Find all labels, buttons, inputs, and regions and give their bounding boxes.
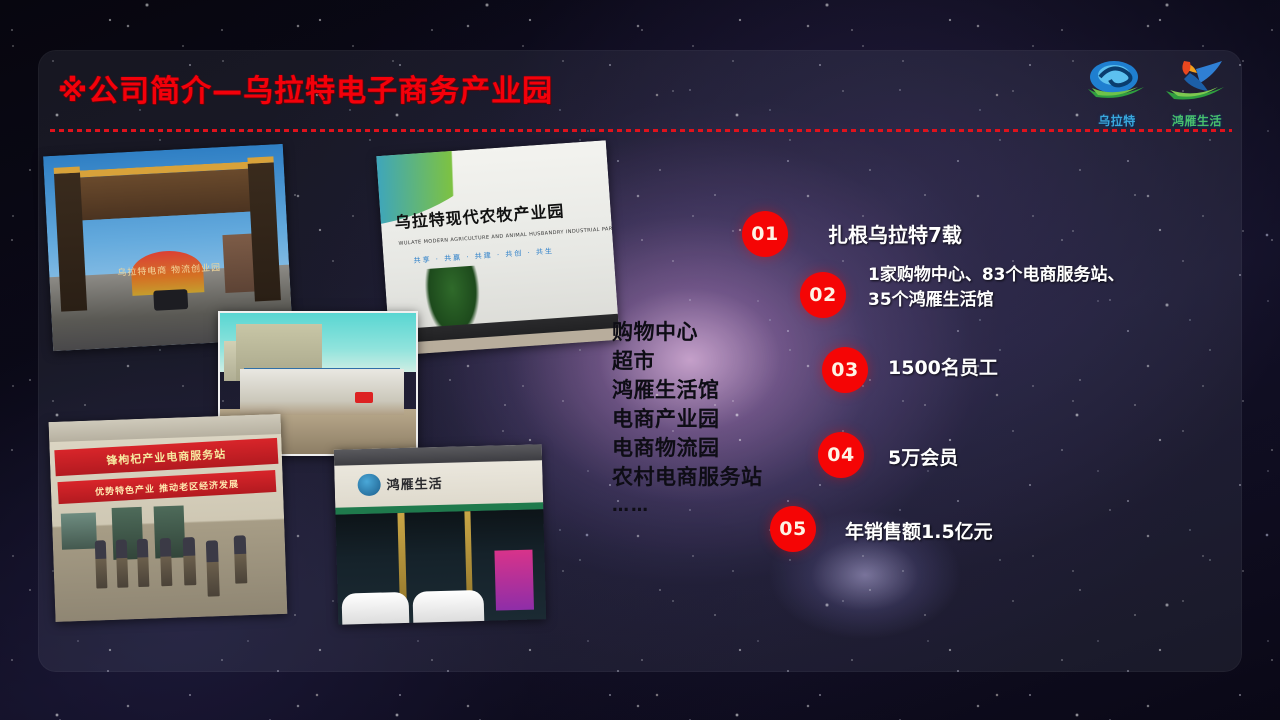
business-line-ellipsis: …… bbox=[612, 492, 763, 521]
wulate-ecommerce-logo: 乌拉特 bbox=[1080, 57, 1154, 129]
hongyan-life-logo: 鸿雁生活 bbox=[1160, 57, 1234, 129]
slide-canvas: ※公司简介—乌拉特电子商务产业园 乌拉特 bbox=[0, 0, 1280, 720]
mall-red-sign bbox=[355, 392, 373, 403]
business-line-item: 电商产业园 bbox=[612, 405, 763, 434]
highlight-text-05: 年销售额1.5亿元 bbox=[845, 517, 993, 544]
highlight-text-03: 1500名员工 bbox=[888, 353, 998, 380]
person bbox=[115, 539, 128, 587]
business-line-item: 电商物流园 bbox=[612, 434, 763, 463]
station-photo-content: 锋枸杞产业电商服务站 优势特色产业 推动老区经济发展 bbox=[49, 414, 288, 622]
logo-group: 乌拉特 鸿雁生活 bbox=[1080, 57, 1240, 129]
window bbox=[61, 513, 97, 550]
hongyan-life-storefront-photo: 鸿雁生活 bbox=[334, 444, 547, 624]
highlight-text-01: 扎根乌拉特7载 bbox=[828, 219, 962, 248]
business-line-item: 农村电商服务站 bbox=[612, 463, 763, 492]
flying-goose-icon bbox=[1160, 57, 1234, 105]
storefront-photo-content: 鸿雁生活 bbox=[334, 444, 547, 624]
business-line-item: 购物中心 bbox=[612, 318, 763, 347]
logo-svg-wulate bbox=[1080, 57, 1154, 105]
wulate-logo-caption: 乌拉特 bbox=[1080, 112, 1154, 129]
person bbox=[159, 538, 172, 586]
person bbox=[183, 537, 196, 585]
storefront-logo-icon bbox=[357, 473, 380, 496]
header-divider bbox=[50, 129, 1232, 132]
business-lines-list: 购物中心 超市 鸿雁生活馆 电商产业园 电商物流园 农村电商服务站 …… bbox=[612, 318, 763, 521]
page-title: ※公司简介—乌拉特电子商务产业园 bbox=[58, 66, 553, 110]
person bbox=[136, 539, 149, 587]
promo-poster bbox=[495, 550, 534, 610]
mall-building bbox=[240, 369, 405, 414]
business-line-item: 鸿雁生活馆 bbox=[612, 376, 763, 405]
car bbox=[153, 289, 188, 310]
highlight-text-04: 5万会员 bbox=[888, 443, 958, 470]
person bbox=[94, 540, 107, 588]
storefront-sign-text: 鸿雁生活 bbox=[386, 473, 442, 493]
highlight-badge-04: 04 bbox=[818, 432, 864, 478]
highlight-badge-03: 03 bbox=[822, 347, 868, 393]
highlight-text-02-line1: 1家购物中心、83个电商服务站、 bbox=[868, 263, 1125, 288]
highlight-text-02: 1家购物中心、83个电商服务站、 35个鸿雁生活馆 bbox=[868, 263, 1125, 313]
logo-svg-hongyan bbox=[1160, 57, 1234, 105]
parked-car bbox=[412, 589, 484, 624]
highlight-text-02-line2: 35个鸿雁生活馆 bbox=[868, 288, 1125, 313]
business-line-item: 超市 bbox=[612, 347, 763, 376]
highlight-badge-01: 01 bbox=[742, 211, 788, 257]
parked-car bbox=[342, 591, 409, 624]
person bbox=[206, 540, 220, 596]
highlight-badge-02: 02 bbox=[800, 272, 846, 318]
rural-ecommerce-service-station-photo: 锋枸杞产业电商服务站 优势特色产业 推动老区经济发展 bbox=[49, 414, 288, 622]
blue-e-leaf-icon bbox=[1080, 57, 1154, 105]
person bbox=[234, 535, 247, 583]
highlight-badge-05: 05 bbox=[770, 506, 816, 552]
hongyan-logo-caption: 鸿雁生活 bbox=[1160, 112, 1234, 129]
